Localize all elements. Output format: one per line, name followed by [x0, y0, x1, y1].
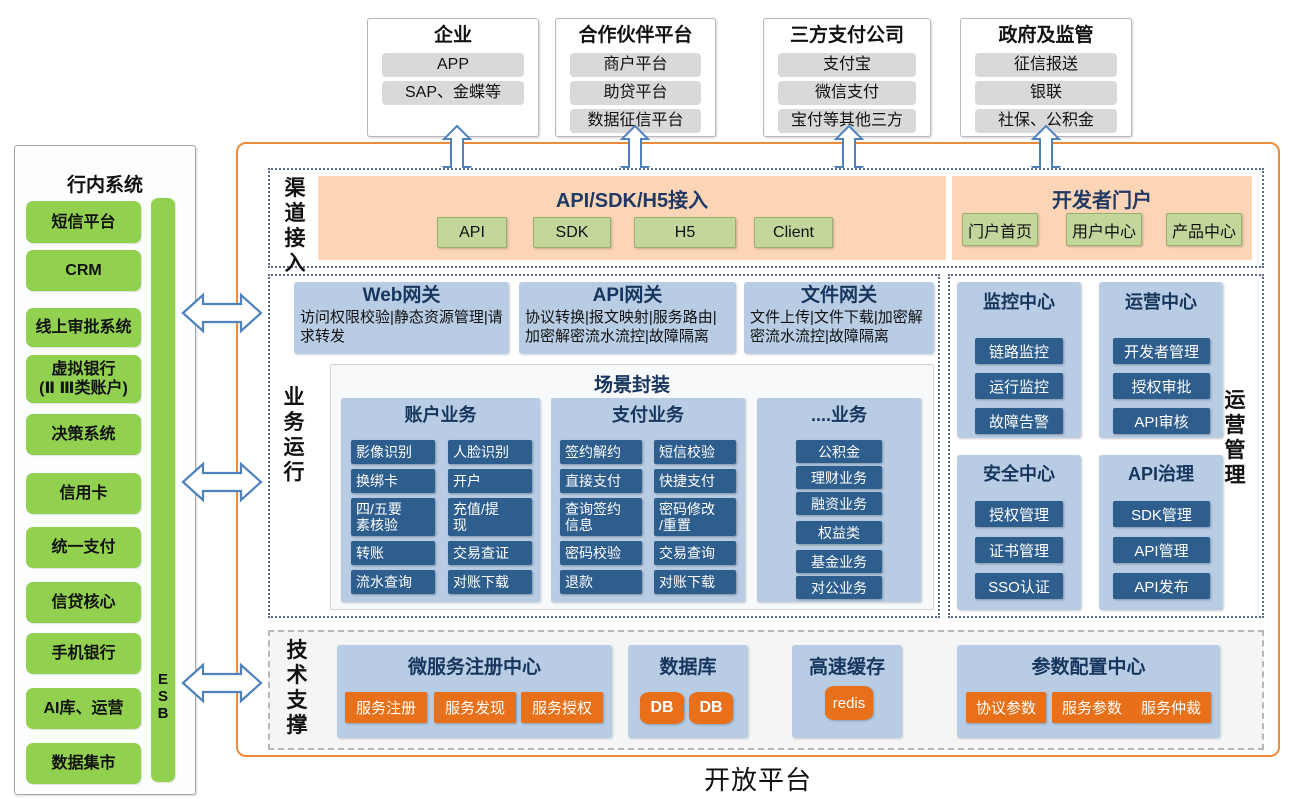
database-cylinder[interactable]: DB: [640, 692, 684, 724]
external-system-item: 支付宝: [778, 53, 916, 77]
ops-chip[interactable]: API管理: [1113, 537, 1210, 563]
gateway-title: 文件网关: [750, 284, 928, 308]
access-chip-client[interactable]: Client: [754, 217, 833, 248]
connector-arrow-horizontal: [183, 293, 261, 333]
ops-chip[interactable]: API发布: [1113, 573, 1210, 599]
business-chip[interactable]: 人脸识别: [448, 440, 532, 464]
external-system-title: 合作伙伴平台: [578, 23, 692, 49]
business-chip[interactable]: 交易查证: [448, 541, 532, 565]
bank-panel-title: 行内系统: [14, 170, 196, 194]
business-chip[interactable]: 签约解约: [560, 440, 642, 464]
bank-item[interactable]: CRM: [26, 250, 141, 291]
business-chip[interactable]: 对账下载: [448, 570, 532, 594]
external-system-title: 三方支付公司: [790, 23, 904, 49]
business-column-title: 支付业务: [551, 402, 745, 428]
tech-card-title: 参数配置中心: [957, 652, 1220, 678]
business-chip[interactable]: 流水查询: [351, 570, 435, 594]
tech-chip[interactable]: 协议参数: [966, 692, 1046, 723]
ops-chip[interactable]: 授权管理: [975, 501, 1063, 527]
esb-label: S: [158, 688, 168, 705]
business-chip[interactable]: 退款: [560, 570, 642, 594]
bank-item-label-line1: 虚拟银行(Ⅱ Ⅲ类账户): [39, 360, 128, 398]
business-chip-label: 查询签约信息: [565, 501, 621, 533]
bank-item[interactable]: 信用卡: [26, 473, 141, 514]
ops-chip[interactable]: 链路监控: [975, 338, 1063, 364]
gateway-title: API网关: [525, 284, 730, 308]
business-chip[interactable]: 权益类: [796, 521, 882, 544]
external-system-item: SAP、金蝶等: [382, 81, 524, 105]
redis-cylinder[interactable]: redis: [825, 686, 873, 720]
ops-chip[interactable]: 证书管理: [975, 537, 1063, 563]
business-chip[interactable]: 交易查询: [654, 541, 736, 565]
bank-item[interactable]: 决策系统: [26, 414, 141, 455]
business-chip[interactable]: 公积金: [796, 440, 882, 463]
api-sdk-h5-access-title: API/SDK/H5接入: [318, 184, 946, 210]
bank-item[interactable]: 线上审批系统: [26, 308, 141, 347]
business-chip[interactable]: 对账下载: [654, 570, 736, 594]
external-system-card-3: 政府及监管 征信报送 银联 社保、公积金: [960, 18, 1132, 137]
developer-portal-title: 开发者门户: [952, 184, 1252, 210]
ops-chip[interactable]: API审核: [1113, 408, 1210, 434]
business-run-label: 业务运行: [281, 385, 307, 505]
business-chip[interactable]: 充值/提现: [448, 498, 532, 536]
bank-item[interactable]: 统一支付: [26, 527, 141, 568]
business-chip[interactable]: 换绑卡: [351, 469, 435, 493]
portal-chip-home[interactable]: 门户首页: [962, 213, 1038, 246]
tech-chip[interactable]: 服务授权: [521, 692, 603, 723]
ops-chip[interactable]: SSO认证: [975, 573, 1063, 599]
business-chip[interactable]: 理财业务: [796, 466, 882, 489]
gateway-card-api: API网关 协议转换|报文映射|服务路由|加密解密流水流控|故障隔离: [519, 282, 736, 354]
business-chip[interactable]: 密码修改/重置: [654, 498, 736, 536]
ops-card-title: 监控中心: [957, 288, 1081, 316]
external-system-item: 助贷平台: [570, 81, 701, 105]
business-chip[interactable]: 影像识别: [351, 440, 435, 464]
bank-item[interactable]: 短信平台: [26, 201, 141, 243]
esb-label: E: [158, 671, 168, 688]
access-chip-api[interactable]: API: [437, 217, 507, 248]
business-chip[interactable]: 开户: [448, 469, 532, 493]
ops-chip[interactable]: 故障告警: [975, 408, 1063, 434]
business-column-title: 账户业务: [341, 402, 540, 428]
business-chip[interactable]: 对公业务: [796, 576, 882, 599]
tech-chip[interactable]: 服务注册: [345, 692, 427, 723]
esb-bus: E S B: [151, 198, 175, 782]
business-chip-label: 四/五要素核验: [356, 501, 402, 533]
connector-arrow-horizontal: [183, 462, 261, 502]
ops-card-title: 安全中心: [957, 460, 1081, 488]
business-chip[interactable]: 直接支付: [560, 469, 642, 493]
tech-chip[interactable]: 服务发现: [434, 692, 516, 723]
external-system-card-1: 合作伙伴平台 商户平台 助贷平台 数据征信平台: [555, 18, 716, 137]
external-system-item: 征信报送: [975, 53, 1117, 77]
tech-card-title: 数据库: [628, 652, 748, 678]
external-system-item: APP: [382, 53, 524, 77]
bank-item[interactable]: 数据集市: [26, 743, 141, 784]
external-system-card-0: 企业 APP SAP、金蝶等: [367, 18, 539, 137]
external-system-item: 银联: [975, 81, 1117, 105]
bank-item[interactable]: 虚拟银行(Ⅱ Ⅲ类账户): [26, 355, 141, 403]
business-chip[interactable]: 四/五要素核验: [351, 498, 435, 536]
ops-chip[interactable]: 授权审批: [1113, 373, 1210, 399]
business-chip-label: 密码修改/重置: [659, 501, 715, 533]
architecture-diagram: 企业 APP SAP、金蝶等 合作伙伴平台 商户平台 助贷平台 数据征信平台 三…: [0, 0, 1299, 799]
business-column-title: ....业务: [757, 402, 921, 428]
business-chip[interactable]: 快捷支付: [654, 469, 736, 493]
access-chip-h5[interactable]: H5: [634, 217, 736, 248]
ops-chip[interactable]: 运行监控: [975, 373, 1063, 399]
gateway-card-web: Web网关 访问权限校验|静态资源管理|请求转发: [294, 282, 509, 354]
business-chip[interactable]: 基金业务: [796, 550, 882, 573]
tech-chip[interactable]: 服务仲裁: [1131, 692, 1211, 723]
operations-management-label: 运营管理: [1222, 388, 1248, 508]
external-system-title: 政府及监管: [998, 23, 1093, 49]
business-chip[interactable]: 查询签约信息: [560, 498, 642, 536]
business-chip[interactable]: 短信校验: [654, 440, 736, 464]
ops-card-title: 运营中心: [1099, 288, 1223, 316]
bank-item[interactable]: 信贷核心: [26, 582, 141, 623]
esb-label: B: [158, 705, 169, 722]
scene-encapsulation-title: 场景封装: [330, 370, 934, 394]
portal-chip-product-center[interactable]: 产品中心: [1166, 213, 1242, 246]
gateway-desc: 访问权限校验|静态资源管理|请求转发: [300, 308, 503, 346]
gateway-desc: 协议转换|报文映射|服务路由|加密解密流水流控|故障隔离: [525, 308, 730, 346]
ops-chip[interactable]: 开发者管理: [1113, 338, 1210, 364]
database-cylinder[interactable]: DB: [689, 692, 733, 724]
business-chip[interactable]: 转账: [351, 541, 435, 565]
tech-card-title: 微服务注册中心: [337, 652, 612, 678]
connector-arrow-horizontal: [183, 663, 261, 703]
portal-chip-user-center[interactable]: 用户中心: [1066, 213, 1142, 246]
access-chip-sdk[interactable]: SDK: [533, 217, 611, 248]
business-chip-label: 充值/提现: [453, 501, 499, 533]
external-system-title: 企业: [434, 23, 472, 49]
platform-title: 开放平台: [236, 763, 1280, 797]
business-chip[interactable]: 密码校验: [560, 541, 642, 565]
gateway-card-file: 文件网关 文件上传|文件下载|加密解密流水流控|故障隔离: [744, 282, 934, 354]
ops-chip[interactable]: SDK管理: [1113, 501, 1210, 527]
business-chip[interactable]: 融资业务: [796, 492, 882, 515]
channel-access-label: 渠道接入: [282, 176, 308, 264]
external-system-item: 微信支付: [778, 81, 916, 105]
gateway-desc: 文件上传|文件下载|加密解密流水流控|故障隔离: [750, 308, 928, 346]
gateway-title: Web网关: [300, 284, 503, 308]
tech-card-title: 高速缓存: [792, 652, 902, 678]
bank-item[interactable]: 手机银行: [26, 633, 141, 674]
bank-item[interactable]: AI库、运营: [26, 688, 141, 729]
tech-chip[interactable]: 服务参数: [1052, 692, 1132, 723]
external-system-item: 商户平台: [570, 53, 701, 77]
external-system-card-2: 三方支付公司 支付宝 微信支付 宝付等其他三方: [763, 18, 931, 137]
tech-support-label: 技术支撑: [284, 638, 310, 742]
ops-card-title: API治理: [1099, 460, 1223, 488]
